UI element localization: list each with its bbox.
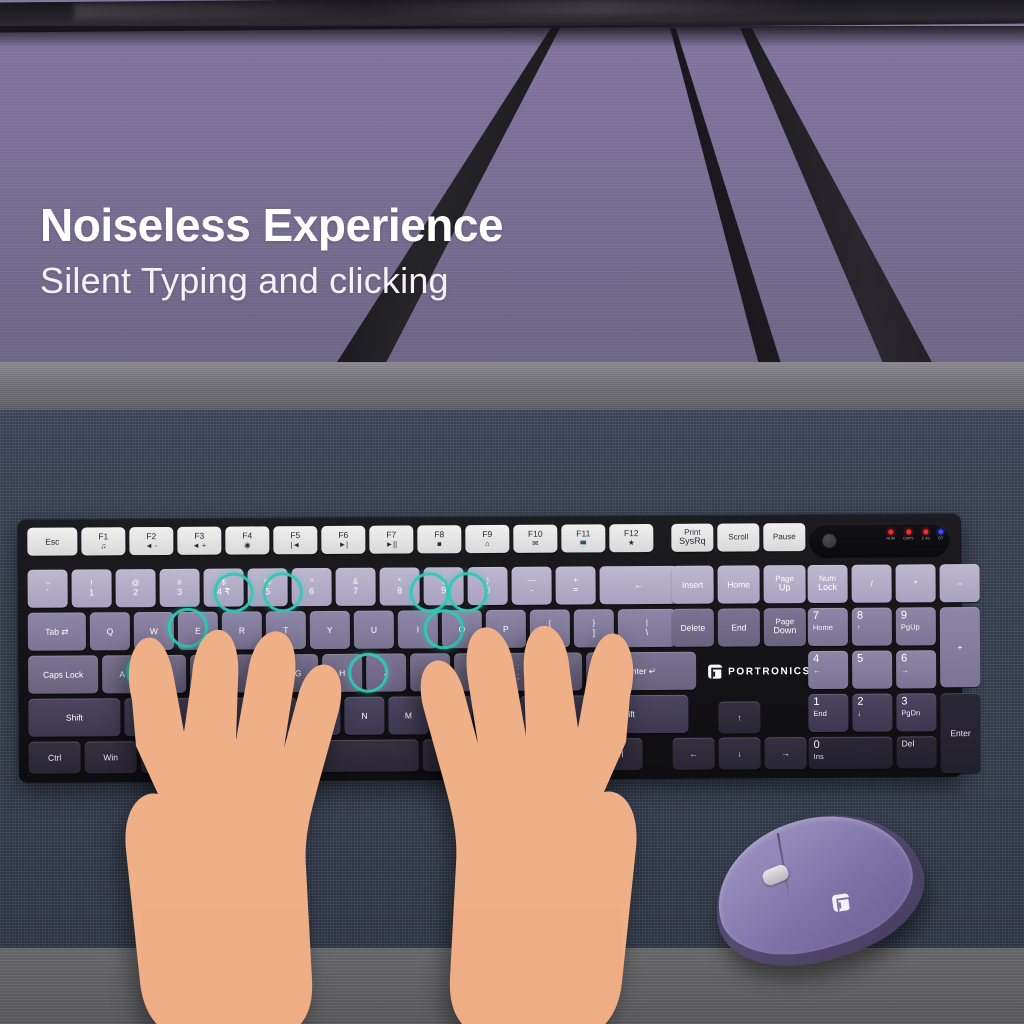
key-sublabel: PgUp xyxy=(901,623,920,631)
caps-lock-led: CAPS xyxy=(903,529,914,540)
key-ctrl-left[interactable]: Ctrl xyxy=(29,742,81,774)
key-legend-bottom: 1 xyxy=(89,589,94,598)
rf-led: 2.4G xyxy=(922,529,931,540)
key-legend-bottom: SysRq xyxy=(679,537,706,547)
key-arrow-left[interactable]: ← xyxy=(673,738,715,770)
num-lock-led-dot xyxy=(888,530,893,535)
key-label: F5 xyxy=(290,531,300,540)
key-numpad-9[interactable]: 9PgUp xyxy=(896,607,936,645)
key-caps-lock[interactable]: Caps Lock xyxy=(28,655,98,693)
key-label: F7 xyxy=(386,531,396,540)
key-legend-top: ~ xyxy=(45,580,50,588)
key-label: F12 xyxy=(624,529,639,538)
num-lock-led-label: NUM xyxy=(886,537,895,541)
key-label: 1 xyxy=(813,697,819,709)
key-label: Esc xyxy=(45,537,59,546)
numpad-row-5[interactable]: 0InsDel xyxy=(809,736,937,769)
key-label: F2 xyxy=(146,532,156,541)
caps-lock-led-dot xyxy=(906,529,911,534)
key-label: * xyxy=(914,579,917,588)
key-label: End xyxy=(731,623,746,632)
key-legend-bottom: Up xyxy=(779,584,791,594)
key-icon: ◄ + xyxy=(192,542,206,550)
key-numpad-del[interactable]: Del xyxy=(897,736,937,768)
key-tab[interactable]: Tab ⇄ xyxy=(28,612,86,650)
key-numpad-enter[interactable]: Enter xyxy=(940,693,980,773)
key-f12-favourites[interactable]: F12★ xyxy=(609,524,653,552)
key-f8-stop[interactable]: F8■ xyxy=(417,525,461,553)
editing-cluster-bottom[interactable]: DeleteEndPageDown xyxy=(672,608,806,647)
key-home[interactable]: Home xyxy=(718,565,760,603)
key-label: F1 xyxy=(98,533,108,542)
key-legend-top: Page xyxy=(775,618,794,627)
key-legend-top: Scroll xyxy=(728,533,748,542)
key-legend-top: Num xyxy=(819,575,836,583)
key-label: / xyxy=(870,579,872,588)
key-legend-bottom: Lock xyxy=(818,583,837,593)
key-label: 2 xyxy=(857,697,863,709)
key-insert[interactable]: Insert xyxy=(672,566,714,604)
key-numpad-0[interactable]: 0Ins xyxy=(809,737,893,770)
key-label: Del xyxy=(902,739,915,748)
key-icon: ►| xyxy=(339,541,348,549)
rf-led-label: 2.4G xyxy=(922,536,931,540)
key-numpad-7[interactable]: 7Home xyxy=(808,608,848,646)
key-legend-top: Print xyxy=(684,529,701,537)
key-f9-home[interactable]: F9⌂ xyxy=(465,525,509,553)
key-f11-computer[interactable]: F11💻 xyxy=(561,524,605,552)
key-label: + xyxy=(957,643,962,652)
key-icon: ⌂ xyxy=(485,540,490,548)
key-label: Enter xyxy=(950,729,970,738)
brand-logo: PORTRONICS xyxy=(708,664,811,679)
desk-surface xyxy=(0,362,1024,414)
key-sublabel: → xyxy=(901,666,909,674)
key-label: 6 xyxy=(901,653,907,665)
key-page-down[interactable]: PageDown xyxy=(764,608,806,646)
key-numpad-multiply[interactable]: * xyxy=(895,564,935,602)
key-icon: |◄ xyxy=(291,541,300,549)
arrow-key-cluster[interactable]: ←↓→ xyxy=(673,737,807,770)
key-label: F10 xyxy=(528,530,543,539)
key-label: 5 xyxy=(857,654,863,666)
key-pause-break[interactable]: Pause xyxy=(763,523,805,551)
key-num-lock[interactable]: NumLock xyxy=(807,565,847,603)
key-legend-top: Pause xyxy=(773,533,796,542)
key-print-screen[interactable]: PrintSysRq xyxy=(671,524,713,552)
key-label: Caps Lock xyxy=(43,670,83,679)
key-icon: 💻 xyxy=(579,540,588,548)
key-icon: ◄ - xyxy=(145,542,157,550)
portronics-p-icon xyxy=(832,893,851,912)
key-label: ↓ xyxy=(737,749,741,758)
numpad-row-3[interactable]: 4←56→ xyxy=(808,650,936,689)
key-label: Ctrl xyxy=(48,753,61,762)
indicator-leds: NUMCAPS2.4GBT xyxy=(886,529,943,540)
key-numpad-plus[interactable]: + xyxy=(940,607,980,687)
key-icon: ►|| xyxy=(386,541,397,549)
key-f4-mute[interactable]: F4◉ xyxy=(225,526,269,554)
key-f7-play-pause[interactable]: F7►|| xyxy=(369,525,413,553)
key-f2-volume-down[interactable]: F2◄ - xyxy=(129,527,173,555)
key-numpad-8[interactable]: 8↑ xyxy=(852,608,892,646)
numpad-row-4[interactable]: 1End2↓3PgDn xyxy=(808,693,936,732)
key-sublabel: PgDn xyxy=(901,709,920,717)
numpad-row-1[interactable]: NumLock/*– xyxy=(807,564,979,603)
key-numpad-4[interactable]: 4← xyxy=(808,651,848,689)
key-f3-volume-up[interactable]: F3◄ + xyxy=(177,527,221,555)
key-f5-previous[interactable]: F5|◄ xyxy=(273,526,317,554)
bluetooth-led-dot xyxy=(938,529,943,534)
key-legend-top: ! xyxy=(90,580,92,588)
key-label: F4 xyxy=(242,532,252,541)
key-label: 3 xyxy=(901,696,907,708)
key-page-up[interactable]: PageUp xyxy=(764,565,806,603)
key-label: F8 xyxy=(434,531,444,540)
editing-cluster-top[interactable]: InsertHomePageUp xyxy=(672,565,806,604)
key-label: 0 xyxy=(814,740,820,752)
right-hand xyxy=(330,578,670,1024)
key-label: Tab ⇄ xyxy=(45,627,68,636)
key-arrow-right[interactable]: → xyxy=(765,737,807,769)
key-label: F9 xyxy=(482,530,492,539)
key-f10-mail[interactable]: F10✉ xyxy=(513,525,557,553)
power-button[interactable] xyxy=(822,534,836,548)
key-icon: ◉ xyxy=(244,542,251,550)
key-end[interactable]: End xyxy=(718,608,760,646)
key-label: → xyxy=(781,749,790,758)
key-delete[interactable]: Delete xyxy=(672,609,714,647)
key-esc[interactable]: Esc xyxy=(27,528,77,556)
marketing-copy: Noiseless Experience Silent Typing and c… xyxy=(40,200,800,301)
key-icon: ♫ xyxy=(101,543,107,551)
monitor-shadow xyxy=(0,26,1024,48)
key-label: Home xyxy=(727,580,750,589)
status-strip: NUMCAPS2.4GBT xyxy=(809,523,949,558)
headline: Noiseless Experience xyxy=(40,200,800,252)
subheadline: Silent Typing and clicking xyxy=(40,260,800,301)
key-numpad-3[interactable]: 3PgDn xyxy=(896,693,936,731)
key-tilde[interactable]: ~` xyxy=(28,570,68,608)
key-numpad-2[interactable]: 2↓ xyxy=(852,694,892,732)
key-legend-bottom: Down xyxy=(773,627,796,637)
brand-name: PORTRONICS xyxy=(728,666,811,678)
key-sublabel: Home xyxy=(813,623,833,631)
key-label: 4 xyxy=(813,654,819,666)
key-numpad-minus[interactable]: – xyxy=(939,564,979,602)
nav-key-cluster[interactable]: PrintSysRqScrollPause xyxy=(671,523,805,552)
key-legend-bottom: ` xyxy=(46,589,49,598)
key-label: F11 xyxy=(576,530,590,539)
key-label: 7 xyxy=(813,611,819,623)
key-label: Delete xyxy=(681,623,706,632)
key-label: F3 xyxy=(194,532,204,541)
key-scroll-lock[interactable]: Scroll xyxy=(717,523,759,551)
key-label: Shift xyxy=(66,713,83,722)
key-label: ← xyxy=(689,749,698,758)
key-icon: ■ xyxy=(437,540,442,548)
key-icon: ✉ xyxy=(532,540,538,548)
function-key-row[interactable]: EscF1♫F2◄ -F3◄ +F4◉F5|◄F6►|F7►||F8■F9⌂F1… xyxy=(27,524,653,556)
bluetooth-led: BT xyxy=(938,529,943,540)
key-label: 9 xyxy=(901,610,907,622)
rf-led-dot xyxy=(923,529,928,534)
key-numpad-5[interactable]: 5 xyxy=(852,651,892,689)
key-legend-top: Page xyxy=(775,575,794,584)
num-lock-led: NUM xyxy=(886,530,895,541)
key-label: 8 xyxy=(857,611,863,623)
key-sublabel: ← xyxy=(813,667,821,675)
key-icon: ★ xyxy=(628,539,635,547)
key-sublabel: End xyxy=(813,709,826,717)
key-label: F6 xyxy=(338,531,348,540)
key-numpad-6[interactable]: 6→ xyxy=(896,650,936,688)
caps-lock-led-label: CAPS xyxy=(903,536,914,540)
key-numpad-divide[interactable]: / xyxy=(851,565,891,603)
numpad-row-2[interactable]: 7Home8↑9PgUp xyxy=(808,607,936,646)
key-label: Insert xyxy=(682,580,703,589)
key-f6-next[interactable]: F6►| xyxy=(321,526,365,554)
scene-stage: Noiseless Experience Silent Typing and c… xyxy=(0,0,1024,1024)
key-sublabel: ↑ xyxy=(857,623,861,631)
key-arrow-up[interactable]: ↑ xyxy=(718,701,760,733)
bluetooth-led-label: BT xyxy=(938,536,943,540)
key-sublabel: ↓ xyxy=(857,709,861,717)
key-label: – xyxy=(957,579,962,588)
key-label: ↑ xyxy=(737,713,741,722)
key-arrow-down[interactable]: ↓ xyxy=(719,737,761,769)
key-numpad-1[interactable]: 1End xyxy=(808,694,848,732)
key-sublabel: Ins xyxy=(814,753,824,761)
key-f1-media[interactable]: F1♫ xyxy=(81,527,125,555)
portronics-p-icon xyxy=(708,665,722,679)
